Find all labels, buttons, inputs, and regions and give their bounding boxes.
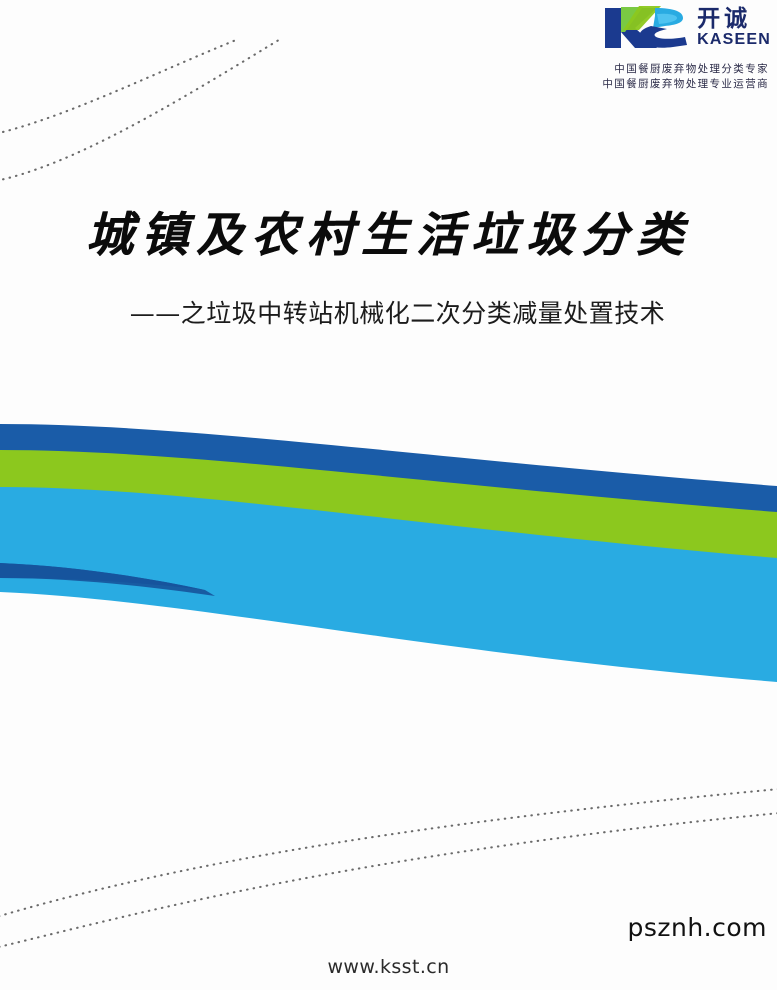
footer-website-url: www.ksst.cn bbox=[0, 956, 777, 978]
brand-logo: 开诚 KASEEN 中国餐厨废弃物处理分类专家 中国餐厨废弃物处理专业运营商 bbox=[571, 2, 771, 92]
ks-monogram-icon bbox=[599, 2, 695, 54]
cover-page: 开诚 KASEEN 中国餐厨废弃物处理分类专家 中国餐厨废弃物处理专业运营商 城… bbox=[0, 0, 777, 990]
watermark-text: psznh.com bbox=[627, 913, 767, 942]
brand-name-en: KASEEN bbox=[697, 32, 771, 48]
brand-name-cn: 开诚 bbox=[697, 8, 771, 31]
wave-ribbon-graphic bbox=[0, 400, 777, 700]
brand-tagline-2: 中国餐厨废弃物处理专业运营商 bbox=[571, 77, 771, 92]
brand-tagline-1: 中国餐厨废弃物处理分类专家 bbox=[571, 62, 771, 77]
page-subtitle: ——之垃圾中转站机械化二次分类减量处置技术 bbox=[0, 294, 777, 330]
logo-row: 开诚 KASEEN bbox=[571, 2, 771, 54]
page-title: 城镇及农村生活垃圾分类 bbox=[0, 196, 777, 265]
logo-wordmark: 开诚 KASEEN bbox=[697, 8, 771, 48]
